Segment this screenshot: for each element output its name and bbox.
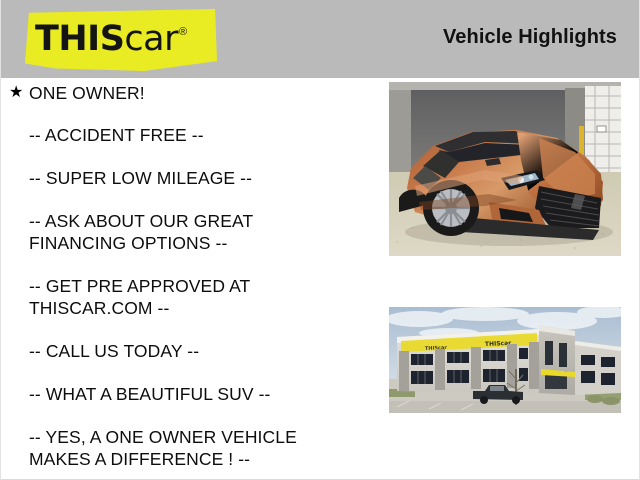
list-item: -- CALL US TODAY --	[1, 340, 353, 362]
page-title: Vehicle Highlights	[443, 26, 617, 49]
list-item: -- ASK ABOUT OUR GREAT FINANCING OPTIONS…	[1, 210, 353, 254]
list-item: ★ONE OWNER!	[1, 82, 353, 104]
thiscar-logo[interactable]: THIScar®	[25, 9, 217, 71]
vehicle-photo[interactable]	[389, 82, 621, 256]
list-item: -- GET PRE APPROVED AT THISCAR.COM --	[1, 275, 353, 319]
list-item: -- YES, A ONE OWNER VEHICLE MAKES A DIFF…	[1, 426, 353, 470]
registered-trademark-icon: ®	[179, 26, 187, 38]
list-item-label: -- WHAT A BEAUTIFUL SUV --	[29, 383, 270, 405]
list-item: -- SUPER LOW MILEAGE --	[1, 167, 353, 189]
dealership-building-image: THIScar THIScar	[389, 307, 621, 413]
vehicle-highlights-list: ★ONE OWNER! -- ACCIDENT FREE -- -- SUPER…	[1, 82, 353, 480]
list-item-label: -- GET PRE APPROVED AT THISCAR.COM --	[29, 275, 339, 319]
list-item-label: -- ASK ABOUT OUR GREAT FINANCING OPTIONS…	[29, 210, 339, 254]
vehicle-photo-image	[389, 82, 621, 256]
vehicle-highlights-page: THIScar® Vehicle Highlights ★ONE OWNER! …	[0, 0, 640, 480]
page-content: ★ONE OWNER! -- ACCIDENT FREE -- -- SUPER…	[1, 78, 639, 479]
list-item-label: -- ACCIDENT FREE --	[29, 124, 204, 146]
logo-wordmark: THIScar®	[35, 18, 213, 60]
logo-text-this: THIS	[35, 19, 124, 59]
logo-text-car: car	[124, 19, 178, 59]
list-item-label: ONE OWNER!	[29, 82, 145, 104]
list-item: -- ACCIDENT FREE --	[1, 124, 353, 146]
list-item: -- WHAT A BEAUTIFUL SUV --	[1, 383, 353, 405]
page-header: THIScar® Vehicle Highlights	[1, 0, 639, 78]
star-icon: ★	[9, 82, 29, 104]
list-item-label: -- YES, A ONE OWNER VEHICLE MAKES A DIFF…	[29, 426, 339, 470]
list-item-label: -- CALL US TODAY --	[29, 340, 199, 362]
list-item-label: -- SUPER LOW MILEAGE --	[29, 167, 252, 189]
dealership-building-photo[interactable]: THIScar THIScar	[389, 307, 621, 413]
